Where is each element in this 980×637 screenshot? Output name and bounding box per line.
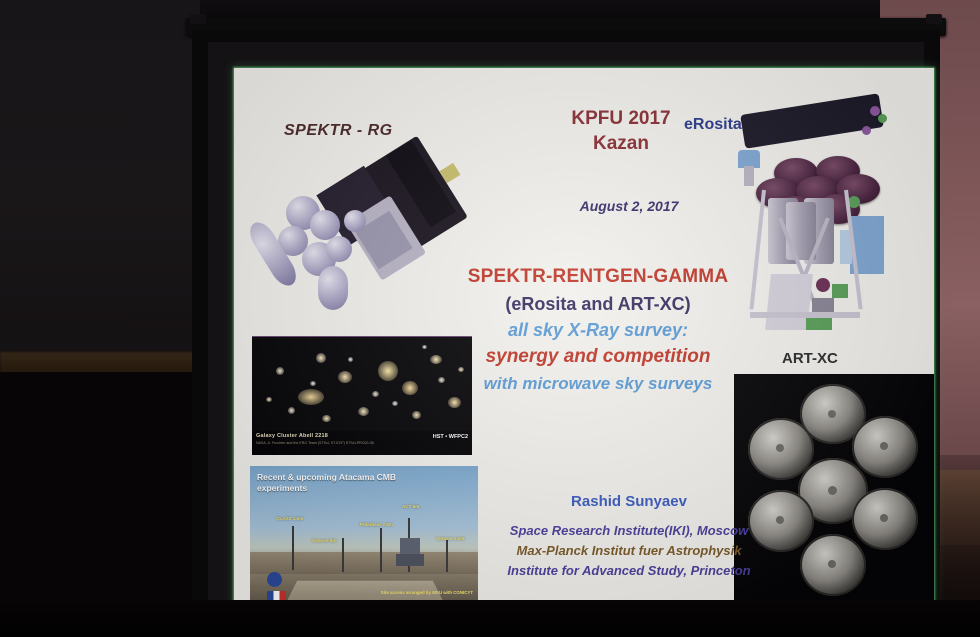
galaxy-cluster-image: Galaxy Cluster Abell 2218 NASA, A. Fruch… [252, 336, 472, 455]
cmb-image-credit: Site access arranged by MSU with CONICYT [381, 590, 473, 595]
erosita-label: eRosita [684, 116, 742, 134]
dark-room-foreground [0, 372, 215, 637]
projection-screen-frame: Galaxy Cluster Abell 2218 NASA, A. Fruch… [192, 30, 940, 615]
projection-screen-surface: Galaxy Cluster Abell 2218 NASA, A. Fruch… [208, 42, 924, 602]
title-line-3: all sky X-Ray survey: [448, 317, 748, 344]
art-xc-label: ART-XC [782, 350, 838, 367]
author-block: Rashid Sunyaev Space Research Institute(… [474, 493, 784, 580]
title-line-5: with microwave sky surveys [448, 371, 748, 397]
event-date: August 2, 2017 [534, 198, 724, 214]
foreground-shadow [0, 600, 980, 637]
cmb-annotation-simons6m: Simons 6m [312, 538, 337, 543]
galaxy-caption-title: Galaxy Cluster Abell 2218 [256, 433, 328, 439]
galaxy-caption-bar: Galaxy Cluster Abell 2218 NASA, A. Fruch… [252, 431, 472, 455]
cmb-annotation-simons1m: Simons 1.0m [436, 536, 464, 541]
cmb-logo-badge [267, 572, 282, 587]
erosita-instrument-image [720, 98, 934, 353]
galaxy-caption-instrument: HST • WFPC2 [433, 434, 468, 440]
cmb-annotation-class: CLASS 1.5m [276, 516, 303, 521]
left-wall [0, 0, 200, 360]
title-line-1: SPEKTR-RENTGEN-GAMMA [448, 264, 748, 291]
projected-slide: Galaxy Cluster Abell 2218 NASA, A. Fruch… [234, 68, 934, 612]
title-line-4: synergy and competition [448, 344, 748, 371]
author-name: Rashid Sunyaev [474, 493, 784, 510]
slide-title-block: SPEKTR-RENTGEN-GAMMA (eRosita and ART-XC… [448, 264, 748, 396]
author-affiliation-1: Space Research Institute(IKI), Moscow [474, 521, 784, 541]
lecture-hall-scene: Galaxy Cluster Abell 2218 NASA, A. Fruch… [0, 0, 980, 637]
cmb-annotation-polarbear: Polarbear 2.5m [360, 522, 393, 527]
cmb-image-title: Recent & upcoming Atacama CMB experiment… [257, 472, 407, 494]
title-line-2: (eRosita and ART-XC) [448, 291, 748, 317]
spektr-rg-label: SPEKTR - RG [284, 122, 393, 140]
author-affiliation-2: Max-Planck Institut fuer Astrophysik [474, 541, 784, 561]
cmb-annotation-act: ACT 6m [402, 504, 419, 509]
spektr-rg-spacecraft-image [256, 140, 474, 330]
event-line-2: Kazan [526, 131, 716, 156]
atacama-cmb-image: Recent & upcoming Atacama CMB experiment… [250, 466, 478, 612]
galaxy-caption-credit: NASA, A. Fruchter and the ERO Team (STSc… [256, 441, 374, 445]
author-affiliation-3: Institute for Advanced Study, Princeton [474, 561, 784, 581]
